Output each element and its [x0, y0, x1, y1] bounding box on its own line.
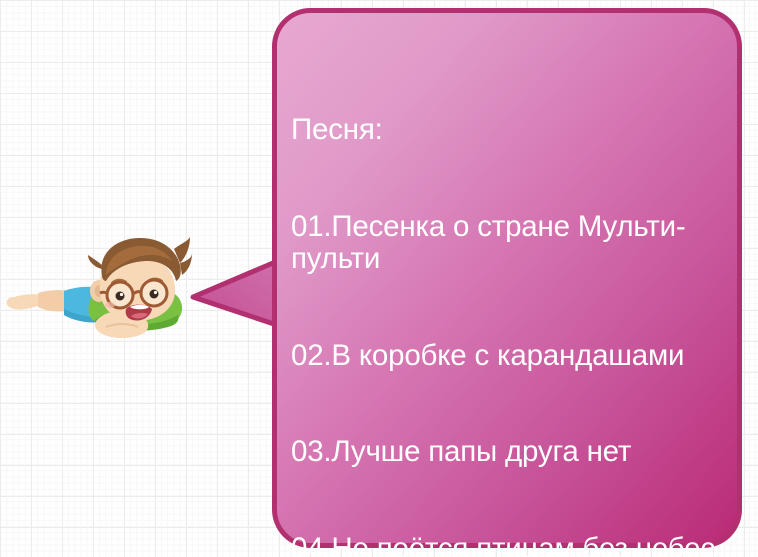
- cartoon-boy-illustration: [2, 235, 192, 350]
- song-list-item: 03.Лучше папы друга нет: [291, 436, 731, 468]
- boy-svg: [2, 235, 192, 350]
- song-list-item: 01.Песенка о стране Мульти-пульти: [291, 211, 731, 275]
- song-list-item: 02.В коробке с карандашами: [291, 340, 731, 372]
- song-list-item: 04.Не поётся птицам без небес: [291, 533, 731, 557]
- speech-bubble: Песня: 01.Песенка о стране Мульти-пульти…: [272, 8, 742, 548]
- song-list-heading: Песня:: [291, 114, 731, 146]
- song-list-text: Песня: 01.Песенка о стране Мульти-пульти…: [291, 50, 731, 557]
- speech-bubble-tail: [185, 252, 285, 332]
- bubble-tail-svg: [185, 252, 285, 332]
- slide-canvas: Песня: 01.Песенка о стране Мульти-пульти…: [0, 0, 758, 557]
